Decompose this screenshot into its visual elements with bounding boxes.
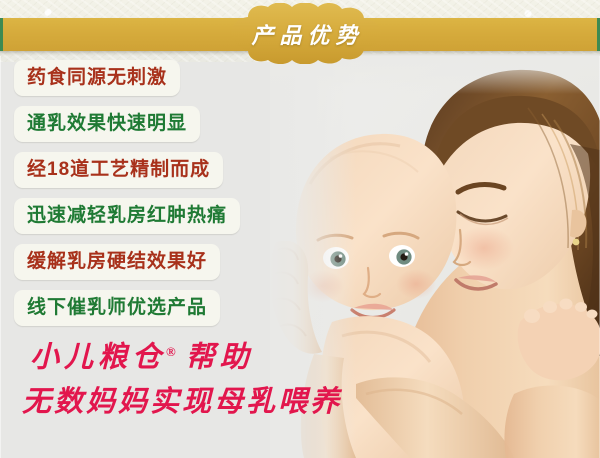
- title-medallion: 产品优势: [218, 3, 393, 64]
- benefits-list: 药食同源无刺激 通乳效果快速明显 经18道工艺精制而成 迅速减轻乳房红肿热痛 缓…: [14, 60, 240, 336]
- slogan-line-1-tail: 帮助: [186, 342, 254, 374]
- benefit-item-2: 通乳效果快速明显: [14, 106, 200, 142]
- banner-title: 产品优势: [218, 3, 393, 64]
- slogan-line-2: 无数妈妈实现母乳喂养: [22, 382, 352, 422]
- benefit-item-6: 线下催乳师优选产品: [14, 290, 220, 326]
- ribbon-left-edge: [0, 18, 3, 51]
- registered-mark: ®: [166, 344, 176, 359]
- benefit-item-3: 经18道工艺精制而成: [14, 152, 223, 188]
- brand-name: 小儿粮仓: [30, 342, 166, 374]
- benefit-item-5: 缓解乳房硬结效果好: [14, 244, 220, 280]
- slogan-block: 小儿粮仓®帮助 无数妈妈实现母乳喂养: [22, 332, 352, 418]
- benefit-item-1: 药食同源无刺激: [14, 60, 180, 96]
- slogan-line-1: 小儿粮仓®帮助: [30, 332, 360, 378]
- benefit-item-4: 迅速减轻乳房红肿热痛: [14, 198, 240, 234]
- product-advantage-poster: 产品优势 药食同源无刺激 通乳效果快速明显 经18道工艺精制而成 迅速减轻乳房红…: [0, 0, 600, 458]
